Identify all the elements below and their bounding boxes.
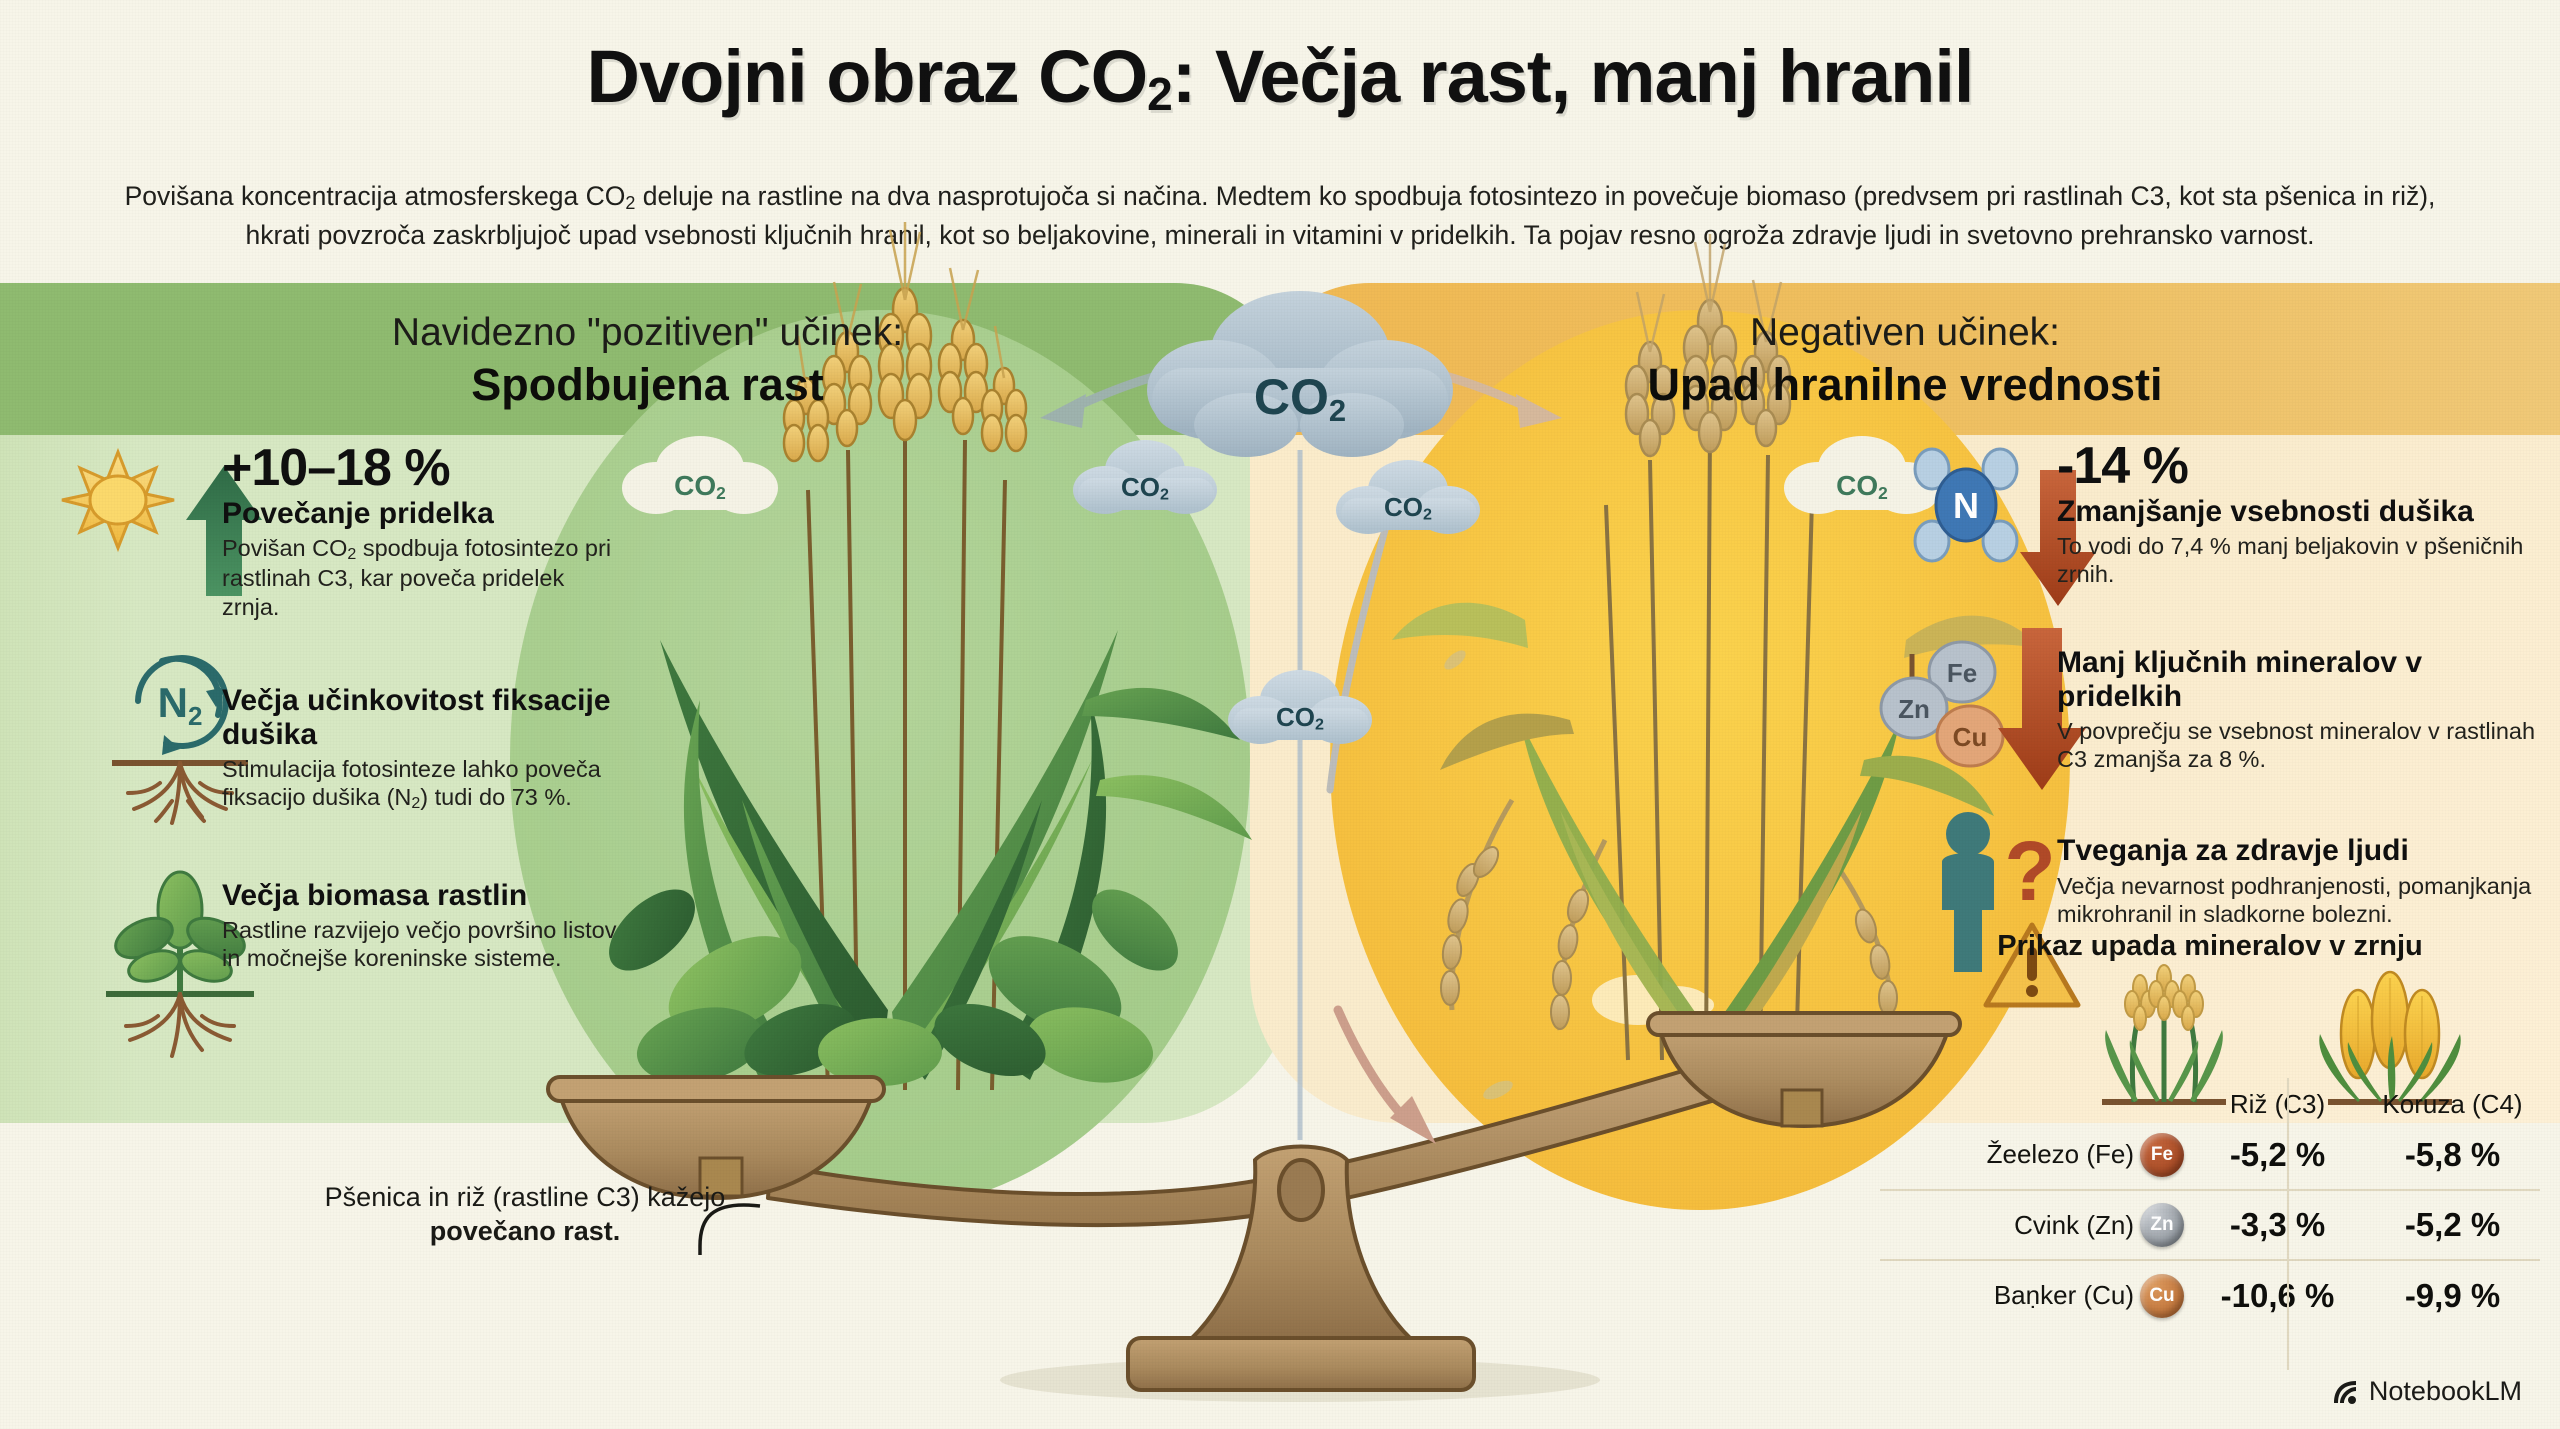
chip-cell: Fe <box>2134 1120 2190 1190</box>
row-label-iron: Žeelezo (Fe) <box>1880 1120 2134 1190</box>
fact-text: Večja učinkovitost fiksacije dušika Stim… <box>222 679 618 814</box>
fact-heading: Povečanje pridelka <box>222 497 618 531</box>
callout-text-a: Pšenica in riž (rastline C3) kažejo <box>325 1182 726 1212</box>
table-row: Baṇker (Cu) Cu -10,6 % -9,9 % <box>1880 1260 2540 1330</box>
fact-stat: +10–18 % <box>222 442 618 494</box>
value-copper-corn: -9,9 % <box>2365 1260 2540 1330</box>
co2-cloud-left-label: CO2 <box>1097 472 1193 505</box>
co2-bottom-sub: 2 <box>1315 716 1324 734</box>
left-panel-kicker: Navidezno "pozitiven" učinek: <box>0 310 1295 356</box>
co2-cloud-bottom-label: CO2 <box>1252 702 1348 735</box>
right-panel-header: Negativen učinek: Upad hranilne vrednost… <box>1250 310 2560 412</box>
page-title: Dvojni obraz CO2: Večja rast, manj hrani… <box>0 38 2560 118</box>
table-title: Prikaz upada mineralov v zrnju <box>1880 930 2540 963</box>
row-label-copper: Baṇker (Cu) <box>1880 1260 2134 1330</box>
crop-icon-rice <box>2190 969 2365 1089</box>
co2-lp-text: CO <box>674 470 716 501</box>
co2-left-text: CO <box>1121 472 1160 502</box>
callout-text-b: povečano rast. <box>430 1216 621 1246</box>
intro-b: deluje na rastline na dva nasprotujoča s… <box>635 181 2356 211</box>
page-title-subscript: 2 <box>1147 68 1172 120</box>
right-facts-list: -14 % Zmanjšanje vsebnosti dušika To vod… <box>1915 438 2555 949</box>
left-facts-list: +10–18 % Povečanje pridelka Povišan CO2 … <box>58 440 618 994</box>
fact-biomass: Večja biomasa rastlin Rastline razvijejo… <box>58 874 618 994</box>
fe-chip-icon: Fe <box>2140 1133 2184 1177</box>
cu-chip-icon: Cu <box>2140 1274 2184 1318</box>
fact-desc-sub: 2 <box>347 546 356 563</box>
value-copper-rice: -10,6 % <box>2190 1260 2365 1330</box>
fact-desc-a: Povišan CO <box>222 535 347 561</box>
watermark-label: NotebookLM <box>2369 1376 2522 1407</box>
page-title-post: : Večja rast, manj hranil <box>1172 35 1974 118</box>
fact-heading: Večja učinkovitost fiksacije dušika <box>222 684 618 752</box>
co2-right-sub: 2 <box>1423 506 1432 524</box>
intro-paragraph: Povišana koncentracija atmosferskega CO2… <box>110 178 2450 254</box>
fact-text: Tveganja za zdravje ljudi Večja nevarnos… <box>2057 829 2555 928</box>
co2-lp-sub: 2 <box>716 483 726 503</box>
table-row: Žeelezo (Fe) Fe -5,2 % -5,8 % <box>1880 1120 2540 1190</box>
fact-description: V povprečju se vsebnost mineralov v rast… <box>2057 717 2555 773</box>
fact-heading: Manj ključnih mineralov v pridelkih <box>2057 646 2555 714</box>
left-panel-title: Spodbujena rast <box>0 358 1295 412</box>
fact-text: Večja biomasa rastlin Rastline razvijejo… <box>222 874 618 973</box>
fact-heading: Zmanjšanje vsebnosti dušika <box>2057 495 2555 529</box>
fact-yield-increase: +10–18 % Povečanje pridelka Povišan CO2 … <box>58 440 618 621</box>
mineral-decline-table: Prikaz upada mineralov v zrnju Riž (C3) … <box>1880 930 2540 1330</box>
fact-heading: Tveganja za zdravje ljudi <box>2057 834 2555 868</box>
value-zinc-rice: -3,3 % <box>2190 1190 2365 1260</box>
table-vertical-divider <box>2287 1078 2289 1370</box>
intro-a: Povišana koncentracija atmosferskega CO <box>125 181 626 211</box>
table-header-row: Riž (C3) Koruza (C4) <box>1880 1089 2540 1120</box>
right-panel-kicker: Negativen učinek: <box>1250 310 2560 356</box>
column-header-corn: Koruza (C4) <box>2365 1089 2540 1120</box>
co2-bottom-text: CO <box>1276 702 1315 732</box>
fact-nitrogen-decline: -14 % Zmanjšanje vsebnosti dušika To vod… <box>1915 438 2555 589</box>
left-panel-header: Navidezno "pozitiven" učinek: Spodbujena… <box>0 310 1295 412</box>
fact-nitrogen-fixation: Večja učinkovitost fiksacije dušika Stim… <box>58 679 618 814</box>
fact-desc-sub: 2 <box>411 795 420 812</box>
callout-c3-growth: Pšenica in riž (rastline C3) kažejo pove… <box>290 1180 760 1248</box>
fact-icon-slot <box>1915 438 2043 558</box>
page-title-pre: Dvojni obraz CO <box>587 35 1148 118</box>
row-label-zinc: Cvink (Zn) <box>1880 1190 2134 1260</box>
intro-subscript: 2 <box>625 193 635 213</box>
table-crop-icon-row <box>1880 969 2540 1089</box>
chip-cell: Zn <box>2134 1190 2190 1260</box>
fact-stat: -14 % <box>2057 440 2555 492</box>
fact-icon-slot <box>1915 641 2043 761</box>
fact-description: Povišan CO2 spodbuja fotosintezo pri ras… <box>222 534 618 621</box>
table-row: Cvink (Zn) Zn -3,3 % -5,2 % <box>1880 1190 2540 1260</box>
co2-rp-sub: 2 <box>1878 483 1888 503</box>
co2-cloud-right-label: CO2 <box>1360 492 1456 525</box>
crop-icon-corn <box>2365 969 2540 1089</box>
table: Riž (C3) Koruza (C4) Žeelezo (Fe) Fe -5,… <box>1880 969 2540 1330</box>
value-iron-rice: -5,2 % <box>2190 1120 2365 1190</box>
fact-text: -14 % Zmanjšanje vsebnosti dušika To vod… <box>2057 438 2555 589</box>
co2-left-sub: 2 <box>1160 486 1169 504</box>
fact-description: Večja nevarnost podhranjenosti, pomanjka… <box>2057 872 2555 928</box>
fact-icon-slot <box>58 874 208 994</box>
fact-text: +10–18 % Povečanje pridelka Povišan CO2 … <box>222 440 618 621</box>
fact-description: Rastline razvijejo večjo površino listov… <box>222 916 618 972</box>
fact-description: To vodi do 7,4 % manj beljakovin v pšeni… <box>2057 532 2555 588</box>
co2-rp-text: CO <box>1836 470 1878 501</box>
fact-icon-slot <box>58 440 208 560</box>
co2-right-text: CO <box>1384 492 1423 522</box>
notebooklm-watermark: NotebookLM <box>2330 1376 2522 1407</box>
right-panel-title: Upad hranilne vrednosti <box>1250 358 2560 412</box>
co2-cloud-left-panel-label: CO2 <box>650 470 750 504</box>
chip-cell: Cu <box>2134 1260 2190 1330</box>
header: Dvojni obraz CO2: Večja rast, manj hrani… <box>0 0 2560 280</box>
notebooklm-logo-icon <box>2330 1377 2360 1407</box>
fact-heading: Večja biomasa rastlin <box>222 879 618 913</box>
fact-description: Stimulacija fotosinteze lahko poveča fik… <box>222 755 618 813</box>
co2-cloud-right-panel-label: CO2 <box>1812 470 1912 504</box>
value-iron-corn: -5,8 % <box>2365 1120 2540 1190</box>
fact-text: Manj ključnih mineralov v pridelkih V po… <box>2057 641 2555 774</box>
fact-mineral-decline: Manj ključnih mineralov v pridelkih V po… <box>1915 641 2555 774</box>
zn-chip-icon: Zn <box>2140 1203 2184 1247</box>
column-header-rice: Riž (C3) <box>2190 1089 2365 1120</box>
fact-icon-slot <box>58 679 208 799</box>
value-zinc-corn: -5,2 % <box>2365 1190 2540 1260</box>
fact-desc-b: ) tudi do 73 %. <box>420 784 572 810</box>
